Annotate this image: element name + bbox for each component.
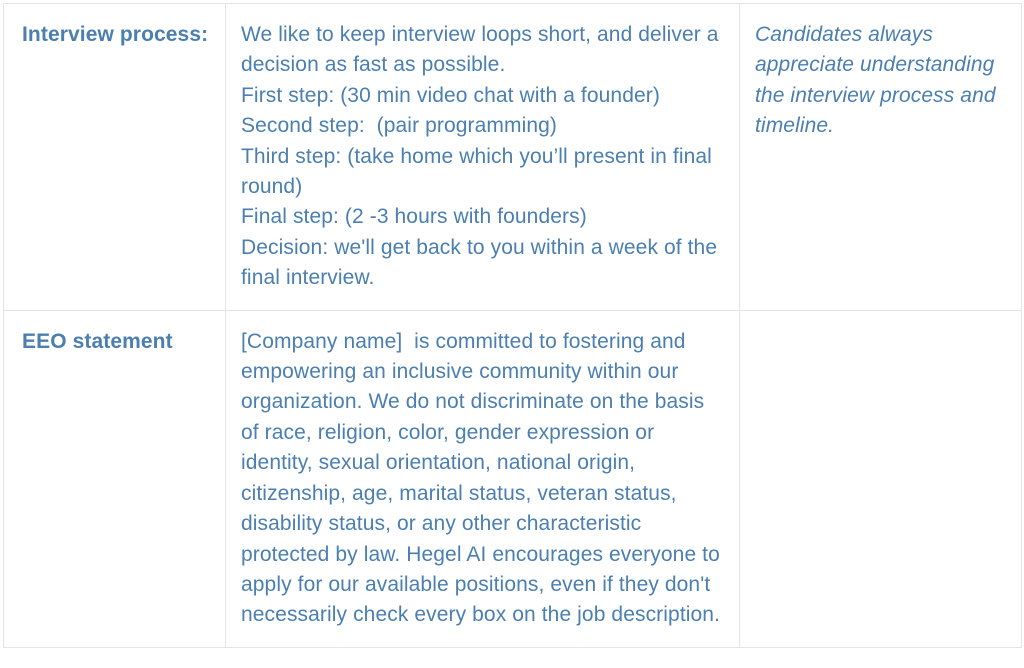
job-description-table-container: Interview process: We like to keep inter… bbox=[3, 3, 1018, 660]
table-cell-label-eeo-statement: EEO statement bbox=[4, 310, 226, 647]
table-cell-note-eeo-statement bbox=[740, 310, 1022, 647]
eeo-statement-body: [Company name] is committed to fostering… bbox=[226, 311, 739, 647]
eeo-statement-note bbox=[740, 311, 1021, 638]
table-cell-body-eeo-statement: [Company name] is committed to fostering… bbox=[226, 310, 740, 647]
interview-process-note: Candidates always appreciate understandi… bbox=[740, 4, 1021, 267]
row-label-eeo-statement: EEO statement bbox=[4, 311, 225, 638]
interview-process-line-decision: Decision: we'll get back to you within a… bbox=[241, 233, 727, 294]
row-label-interview-process: Interview process: bbox=[4, 4, 225, 267]
interview-process-line-second-step: Second step: (pair programming) bbox=[241, 111, 727, 141]
table-cell-note-interview-process: Candidates always appreciate understandi… bbox=[740, 4, 1022, 311]
job-description-table: Interview process: We like to keep inter… bbox=[3, 3, 1022, 648]
table-body: Interview process: We like to keep inter… bbox=[4, 4, 1022, 648]
interview-process-line-third-step: Third step: (take home which you’ll pres… bbox=[241, 142, 727, 203]
interview-process-body: We like to keep interview loops short, a… bbox=[226, 4, 739, 310]
eeo-statement-paragraph: [Company name] is committed to fostering… bbox=[241, 327, 727, 631]
interview-process-line-intro: We like to keep interview loops short, a… bbox=[241, 20, 727, 81]
interview-process-line-final-step: Final step: (2 -3 hours with founders) bbox=[241, 202, 727, 232]
table-cell-label-interview-process: Interview process: bbox=[4, 4, 226, 311]
table-cell-body-interview-process: We like to keep interview loops short, a… bbox=[226, 4, 740, 311]
table-row: EEO statement [Company name] is committe… bbox=[4, 310, 1022, 647]
table-row: Interview process: We like to keep inter… bbox=[4, 4, 1022, 311]
interview-process-line-first-step: First step: (30 min video chat with a fo… bbox=[241, 81, 727, 111]
